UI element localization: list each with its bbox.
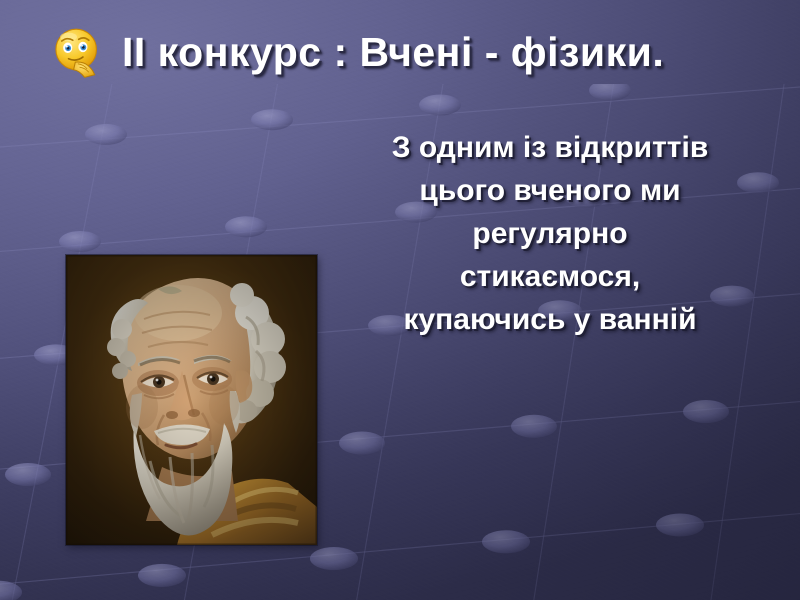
title-row: II конкурс : Вчені - фізики. [0, 22, 800, 84]
thinking-smiley-icon [50, 25, 104, 79]
presentation-slide: II конкурс : Вчені - фізики. З одним із … [0, 0, 800, 600]
body-line: купаючись у ванній [352, 298, 748, 341]
slide-body-text: З одним із відкриттів цього вченого ми р… [352, 126, 748, 341]
body-line: регулярно [352, 212, 748, 255]
page-title: II конкурс : Вчені - фізики. [122, 22, 664, 82]
body-line: цього вченого ми [352, 169, 748, 212]
archimedes-portrait [66, 255, 317, 545]
body-line: стикаємося, [352, 255, 748, 298]
body-line: З одним із відкриттів [352, 126, 748, 169]
